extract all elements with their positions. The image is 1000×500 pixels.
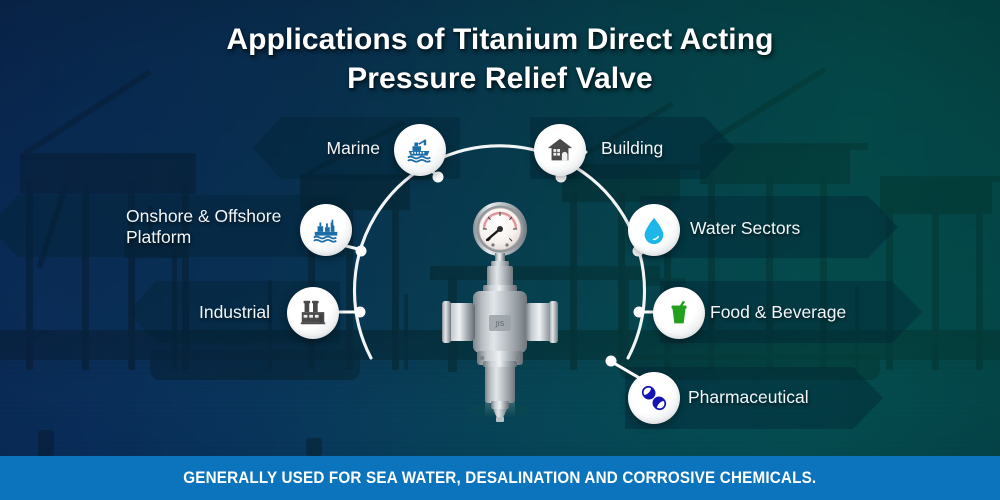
- label-marine: Marine: [190, 138, 380, 159]
- badge-building[interactable]: [534, 124, 586, 176]
- infographic-canvas: Applications of Titanium Direct Acting P…: [0, 0, 1000, 500]
- badge-water[interactable]: [628, 204, 680, 256]
- label-industrial: Industrial: [100, 302, 270, 323]
- house-icon: [545, 135, 575, 165]
- badge-industrial[interactable]: [287, 287, 339, 339]
- svg-text:JIS: JIS: [495, 320, 505, 328]
- drink-cup-icon: [664, 298, 694, 328]
- label-pharma: Pharmaceutical: [688, 387, 918, 408]
- bottom-banner: GENERALLY USED FOR SEA WATER, DESALINATI…: [0, 456, 1000, 500]
- pressure-relief-valve-image: JIS: [425, 195, 575, 425]
- label-food: Food & Beverage: [710, 302, 940, 323]
- banner-text: GENERALLY USED FOR SEA WATER, DESALINATI…: [183, 469, 816, 488]
- ship-icon: [405, 135, 435, 165]
- badge-marine[interactable]: [394, 124, 446, 176]
- water-drop-icon: [639, 215, 669, 245]
- title-line-1: Applications of Titanium Direct Acting: [226, 23, 773, 56]
- pressure-gauge: [473, 202, 527, 267]
- badge-pharma[interactable]: [628, 372, 680, 424]
- label-water: Water Sectors: [690, 218, 910, 239]
- page-title: Applications of Titanium Direct Acting P…: [0, 20, 1000, 98]
- badge-food[interactable]: [653, 287, 705, 339]
- title-line-2: Pressure Relief Valve: [0, 59, 1000, 98]
- badge-platform[interactable]: [300, 204, 352, 256]
- pills-icon: [639, 383, 669, 413]
- oil-platform-icon: [311, 215, 341, 245]
- label-platform: Onshore & Offshore Platform: [126, 206, 306, 249]
- label-building: Building: [601, 138, 801, 159]
- factory-icon: [298, 298, 328, 328]
